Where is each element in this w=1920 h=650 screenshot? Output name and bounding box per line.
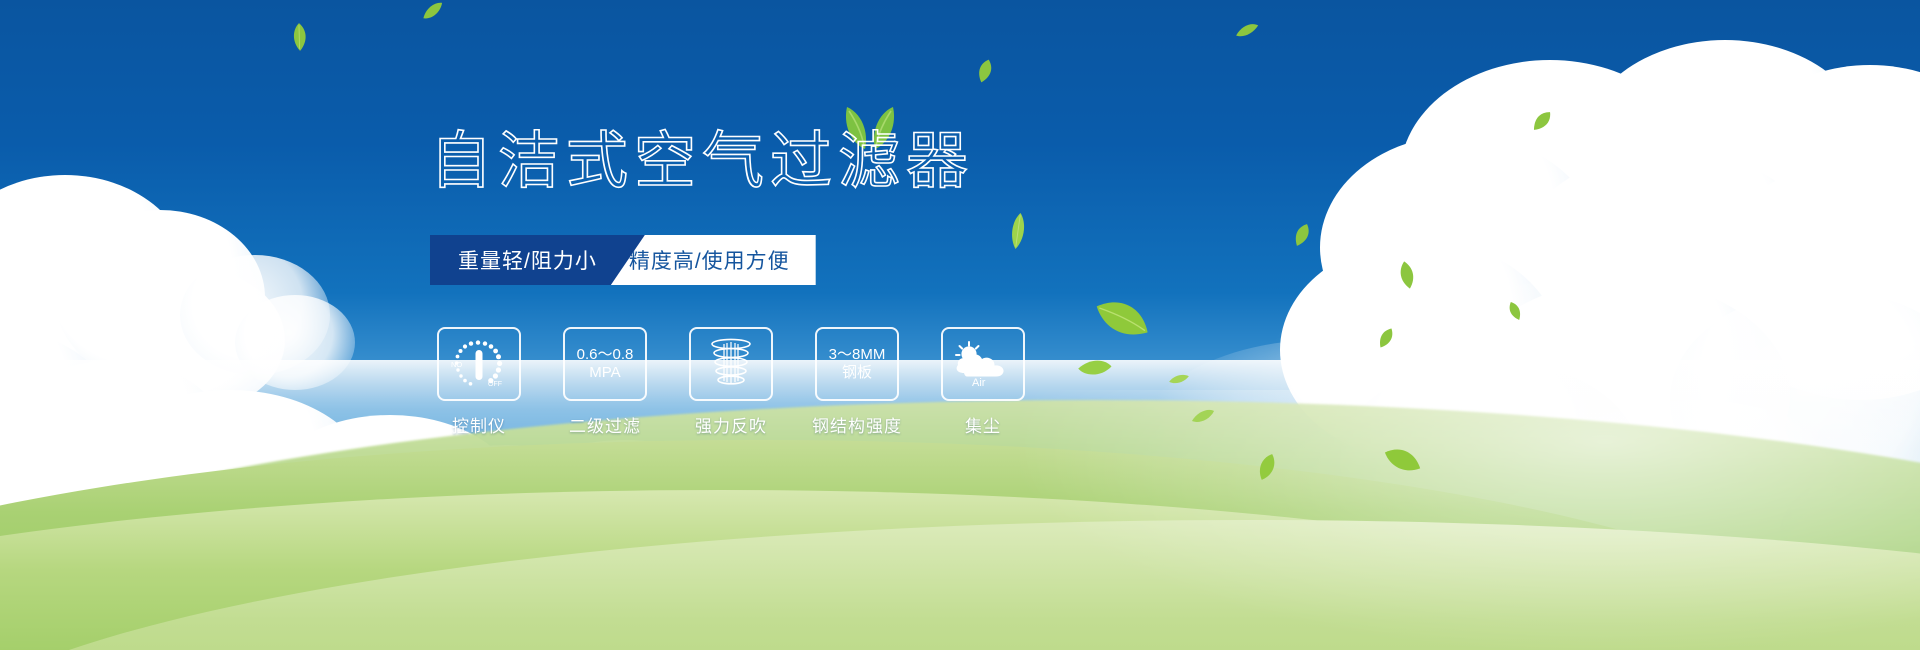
pressure-unit-text: MPA xyxy=(589,364,620,382)
page-title: 自洁式空气过滤器 xyxy=(430,131,974,193)
feature-icon-box: 3～8MM 钢板 xyxy=(815,327,899,401)
feature-label: 控制仪 xyxy=(452,412,506,437)
feature-item-two-stage-filter[interactable]: 0.6～0.8 MPA 二级过滤 xyxy=(563,327,647,437)
tag-group: 重量轻/阻力小 精度高/使用方便 xyxy=(430,235,816,285)
banner-content: 自洁式空气过滤器 重量轻/阻力小 精度高/使用方便 xyxy=(0,0,1920,650)
steel-plate-text: 钢板 xyxy=(842,364,872,382)
filter-cartridge-icon xyxy=(702,336,760,392)
pressure-range-text: 0.6～0.8 xyxy=(577,346,634,364)
feature-label: 集尘 xyxy=(965,412,1001,437)
feature-item-controller[interactable]: NO OFF 控制仪 xyxy=(437,327,521,437)
feature-icon-box: 0.6～0.8 MPA xyxy=(563,327,647,401)
feature-item-dust-collection[interactable]: Air 集尘 xyxy=(941,327,1025,437)
feature-icon-box: NO OFF xyxy=(437,327,521,401)
gauge-dial-icon: NO OFF xyxy=(448,336,510,392)
dial-on-label: NO xyxy=(451,360,462,369)
feature-item-steel-strength[interactable]: 3～8MM 钢板 钢结构强度 xyxy=(815,327,899,437)
feature-item-back-blow[interactable]: 强力反吹 xyxy=(689,327,773,437)
dial-off-label: OFF xyxy=(488,381,502,388)
air-cloud-icon: Air xyxy=(952,340,1014,388)
feature-list: NO OFF 控制仪 0.6～0.8 MPA 二级过滤 xyxy=(437,327,1025,437)
tag-precision-convenience[interactable]: 精度高/使用方便 xyxy=(611,235,816,285)
feature-icon-box: Air xyxy=(941,327,1025,401)
tag-weight-resistance[interactable]: 重量轻/阻力小 xyxy=(430,235,645,285)
product-banner: 自洁式空气过滤器 重量轻/阻力小 精度高/使用方便 xyxy=(0,0,1920,650)
air-label: Air xyxy=(972,377,986,388)
feature-icon-box xyxy=(689,327,773,401)
feature-label: 二级过滤 xyxy=(569,412,641,437)
feature-label: 强力反吹 xyxy=(695,412,767,437)
steel-thickness-text: 3～8MM xyxy=(829,346,886,364)
feature-label: 钢结构强度 xyxy=(812,412,902,437)
